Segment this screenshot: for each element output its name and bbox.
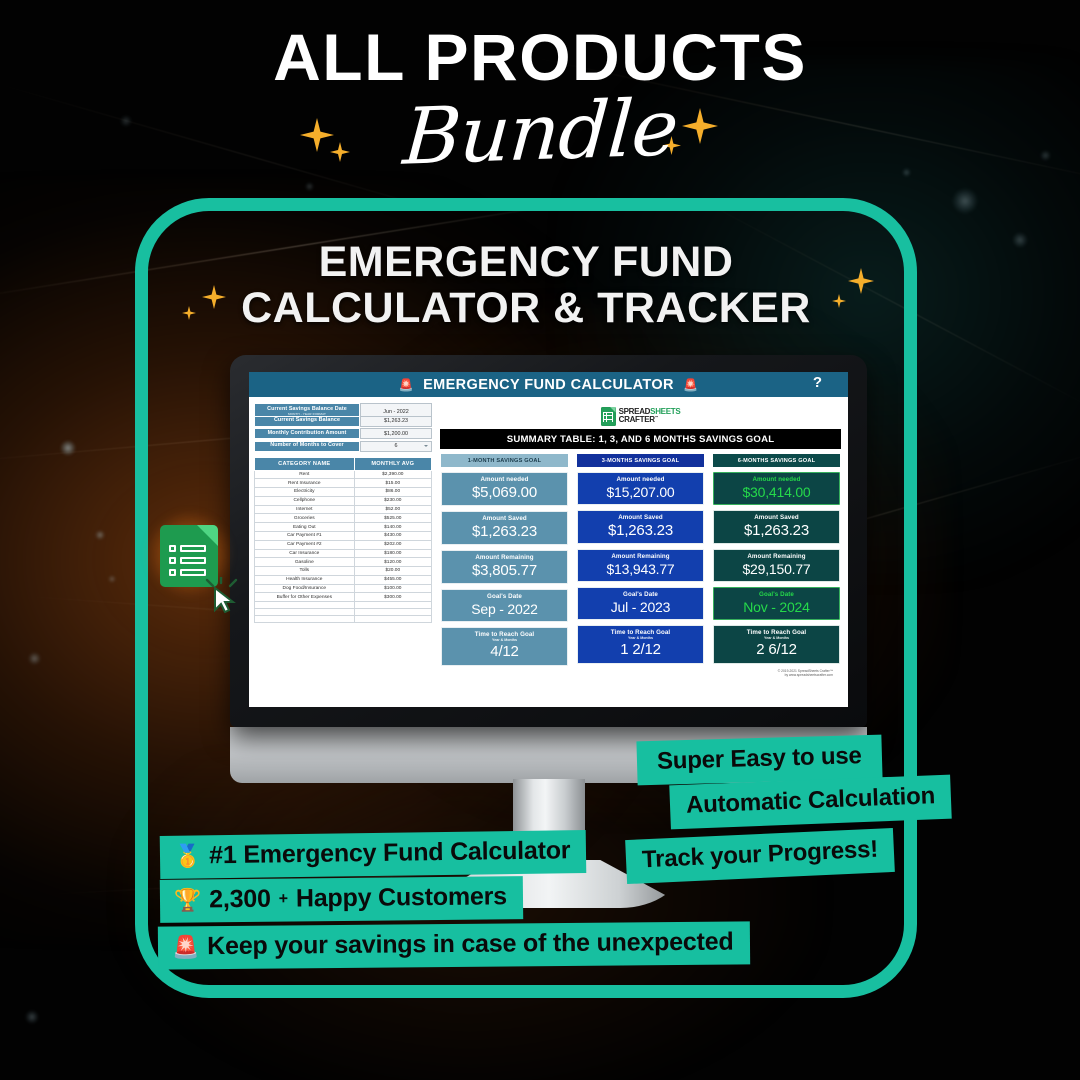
current-balance-field[interactable]: $1,263.23 xyxy=(360,416,432,427)
cell-category-name xyxy=(255,609,355,616)
headline-all-products: ALL PRODUCTS xyxy=(0,24,1080,90)
goal-metric-label: Amount Saved xyxy=(578,514,703,521)
badge-text: #1 Emergency Fund Calculator xyxy=(209,836,571,870)
input-label: Number of Months to Cover xyxy=(254,441,360,452)
input-row-months-to-cover: Number of Months to Cover 6 xyxy=(254,441,432,452)
goal-column-3: 6-MONTHS SAVINGS GOALAmount needed$30,41… xyxy=(713,454,840,666)
cell-category-name: Internet xyxy=(255,505,355,514)
product-title-line-1: EMERGENCY FUND xyxy=(135,240,917,286)
goal-metric-cell: Goal's DateSep - 2022 xyxy=(441,589,568,623)
cell-monthly-avg xyxy=(354,609,431,616)
cell-monthly-avg xyxy=(354,602,431,609)
logo-word-crafter: CRAFTER xyxy=(619,415,655,424)
cell-category-name: Gasoline xyxy=(255,558,355,567)
goal-column-1: 1-MONTH SAVINGS GOALAmount needed$5,069.… xyxy=(441,454,568,666)
goal-metric-cell: Amount Saved$1,263.23 xyxy=(577,510,704,545)
input-row-savings-date: Current Savings Balance Date MONTH - YEA… xyxy=(254,403,432,414)
badge-number-one-calculator: 🥇 #1 Emergency Fund Calculator xyxy=(160,830,587,879)
goal-column-header: 3-MONTHS SAVINGS GOAL xyxy=(577,454,704,467)
goal-metric-label: Goal's Date xyxy=(714,591,839,598)
input-label: Monthly Contribution Amount xyxy=(254,428,360,439)
input-label: Current Savings Balance xyxy=(254,416,360,427)
badge-plus-superscript: + xyxy=(279,890,288,908)
cell-category-name xyxy=(255,602,355,609)
goal-metric-sublabel: Year & Months xyxy=(442,638,567,642)
cell-category-name: Rent Insurance xyxy=(255,479,355,488)
goal-metric-value: $29,150.77 xyxy=(714,561,839,577)
cell-category-name: Car Payment #2 xyxy=(255,540,355,549)
goal-metric-value: Sep - 2022 xyxy=(442,601,567,617)
spreadsheet-titlebar: 🚨 EMERGENCY FUND CALCULATOR 🚨 ? xyxy=(249,372,848,397)
table-row: Electricity$86.00 xyxy=(255,488,432,497)
goal-metric-value: $1,263.23 xyxy=(714,522,839,539)
spreadsheet-title: EMERGENCY FUND CALCULATOR xyxy=(423,377,674,393)
cell-monthly-avg: $140.00 xyxy=(354,523,431,532)
goal-metric-label: Amount needed xyxy=(714,476,839,483)
goal-metric-cell: Amount Saved$1,263.23 xyxy=(713,510,840,545)
brand-logo: SPREADSHEETS CRAFTER™ xyxy=(438,403,843,429)
badge-text: Keep your savings in case of the unexpec… xyxy=(207,928,734,962)
cell-monthly-avg: $100.00 xyxy=(354,584,431,593)
goal-metric-cell: Amount needed$15,207.00 xyxy=(577,472,704,506)
cell-category-name: Buffer for Other Expenses xyxy=(255,593,355,602)
goal-metric-value: Jul - 2023 xyxy=(578,599,703,615)
siren-icon: 🚨 xyxy=(172,936,199,958)
monthly-contribution-field[interactable]: $1,200.00 xyxy=(360,428,432,439)
summary-table-banner: SUMMARY TABLE: 1, 3, AND 6 MONTHS SAVING… xyxy=(440,429,841,449)
goal-metric-label: Amount Remaining xyxy=(578,553,703,560)
cell-monthly-avg xyxy=(354,616,431,623)
goal-metric-cell: Goal's DateJul - 2023 xyxy=(577,587,704,621)
poster-headline: ALL PRODUCTS xyxy=(0,24,1080,90)
badge-text: Track your Progress! xyxy=(641,836,878,875)
goal-metric-cell: Goal's DateNov - 2024 xyxy=(713,587,840,621)
trophy-icon: 🏆 xyxy=(174,889,201,911)
cell-monthly-avg: $300.00 xyxy=(354,593,431,602)
inputs-panel: Current Savings Balance Date MONTH - YEA… xyxy=(254,403,432,707)
mouse-cursor-icon xyxy=(204,577,238,613)
goal-metric-value: 2 6/12 xyxy=(714,641,839,658)
badge-text: Automatic Calculation xyxy=(686,782,936,820)
product-title-line-2: CALCULATOR & TRACKER xyxy=(135,286,917,332)
cell-category-name: Electricity xyxy=(255,488,355,497)
goal-metric-label: Amount Remaining xyxy=(442,554,567,561)
goal-metric-label: Amount Saved xyxy=(442,515,567,522)
product-title: EMERGENCY FUND CALCULATOR & TRACKER xyxy=(135,240,917,331)
goal-metric-label: Goal's Date xyxy=(578,591,703,598)
table-row: Car Insurance$180.00 xyxy=(255,549,432,558)
cell-monthly-avg: $20.00 xyxy=(354,567,431,576)
goal-metric-value: $15,207.00 xyxy=(578,484,703,500)
goal-column-header: 6-MONTHS SAVINGS GOAL xyxy=(713,454,840,467)
table-row-empty xyxy=(255,616,432,623)
goal-columns: 1-MONTH SAVINGS GOALAmount needed$5,069.… xyxy=(438,454,843,666)
goal-metric-cell: Amount Remaining$13,943.77 xyxy=(577,549,704,583)
cell-monthly-avg: $525.00 xyxy=(354,514,431,523)
table-row: Internet$52.00 xyxy=(255,505,432,514)
input-sublabel: MONTH - YEAR FORMAT xyxy=(288,413,326,416)
goal-metric-cell: Amount needed$5,069.00 xyxy=(441,472,568,507)
badge-text: Super Easy to use xyxy=(657,742,862,776)
table-row: Car Payment #2$202.00 xyxy=(255,540,432,549)
goal-metric-value: 4/12 xyxy=(442,643,567,660)
goal-metric-label: Time to Reach Goal xyxy=(442,631,567,638)
cell-category-name: Dog Food/Insurance xyxy=(255,584,355,593)
cell-monthly-avg: $52.00 xyxy=(354,505,431,514)
spreadsheet-icon xyxy=(601,407,616,426)
headline-bundle: Bundle xyxy=(400,83,680,182)
goal-metric-sublabel: Year & Months xyxy=(714,636,839,640)
table-header-row: CATEGORY NAME MONTHLY AVG xyxy=(255,457,432,470)
goal-metric-value: $1,263.23 xyxy=(442,523,567,540)
goal-metric-label: Goal's Date xyxy=(442,593,567,600)
cell-category-name: Cellphone xyxy=(255,496,355,505)
gold-medal-icon: 🥇 xyxy=(174,845,202,867)
table-row-empty xyxy=(255,602,432,609)
cell-category-name: Rent xyxy=(255,470,355,479)
goal-metric-value: $3,805.77 xyxy=(442,562,567,579)
cell-monthly-avg: $86.00 xyxy=(354,488,431,497)
cell-monthly-avg: $202.00 xyxy=(354,540,431,549)
siren-icon: 🚨 xyxy=(683,378,698,392)
spreadsheet-footer: © 2019-2021 SpreadSheets Crafter™ by www… xyxy=(438,666,843,678)
cell-category-name: Health Insurance xyxy=(255,575,355,584)
table-row: Groceries$525.00 xyxy=(255,514,432,523)
badge-happy-customers: 🏆 2,300+ Happy Customers xyxy=(160,876,523,923)
spreadsheet-app: 🚨 EMERGENCY FUND CALCULATOR 🚨 ? Current … xyxy=(249,372,848,707)
table-row: Rent Insurance$15.00 xyxy=(255,479,432,488)
cell-monthly-avg: $230.00 xyxy=(354,496,431,505)
goal-metric-value: 1 2/12 xyxy=(578,641,703,658)
goal-metric-label: Amount Remaining xyxy=(714,553,839,560)
input-row-current-balance: Current Savings Balance $1,263.23 xyxy=(254,416,432,427)
input-row-monthly-contribution: Monthly Contribution Amount $1,200.00 xyxy=(254,428,432,439)
trademark-mark: ™ xyxy=(655,415,658,419)
table-row: Eating Out$140.00 xyxy=(255,523,432,532)
goal-column-2: 3-MONTHS SAVINGS GOALAmount needed$15,20… xyxy=(577,454,704,666)
table-row: Health Insurance$455.00 xyxy=(255,575,432,584)
chevron-down-icon[interactable] xyxy=(424,445,428,447)
column-header-category: CATEGORY NAME xyxy=(255,457,355,470)
goal-metric-label: Time to Reach Goal xyxy=(714,629,839,636)
cell-monthly-avg: $455.00 xyxy=(354,575,431,584)
goal-metric-cell: Time to Reach GoalYear & Months1 2/12 xyxy=(577,625,704,664)
goal-metric-label: Amount needed xyxy=(578,476,703,483)
google-sheets-icon xyxy=(160,525,218,587)
cell-monthly-avg: $430.00 xyxy=(354,531,431,540)
goal-metric-cell: Amount Saved$1,263.23 xyxy=(441,511,568,546)
goal-metric-sublabel: Year & Months xyxy=(578,636,703,640)
monitor-bezel: 🚨 EMERGENCY FUND CALCULATOR 🚨 ? Current … xyxy=(230,355,867,727)
goal-metric-label: Time to Reach Goal xyxy=(578,629,703,636)
goal-metric-value: $30,414.00 xyxy=(714,484,839,500)
goal-metric-cell: Time to Reach GoalYear & Months4/12 xyxy=(441,627,568,666)
goal-metric-cell: Amount needed$30,414.00 xyxy=(713,472,840,506)
goal-metric-value: $1,263.23 xyxy=(578,522,703,539)
table-row: Cellphone$230.00 xyxy=(255,496,432,505)
goal-metric-value: Nov - 2024 xyxy=(714,599,839,615)
cell-category-name: Tolls xyxy=(255,567,355,576)
cell-monthly-avg: $120.00 xyxy=(354,558,431,567)
badge-keep-savings: 🚨 Keep your savings in case of the unexp… xyxy=(158,921,750,969)
cell-category-name: Car Payment #1 xyxy=(255,531,355,540)
table-row-empty xyxy=(255,609,432,616)
goal-metric-cell: Amount Remaining$3,805.77 xyxy=(441,550,568,585)
footer-website: by www.spreadsheetscrafter.com xyxy=(438,673,833,677)
category-table: CATEGORY NAME MONTHLY AVG Rent$2,390.00R… xyxy=(254,457,432,624)
help-button[interactable]: ? xyxy=(813,374,822,391)
months-to-cover-value: 6 xyxy=(395,443,398,449)
cell-category-name: Eating Out xyxy=(255,523,355,532)
goal-metric-value: $5,069.00 xyxy=(442,484,567,501)
goal-metric-cell: Amount Remaining$29,150.77 xyxy=(713,549,840,583)
cell-monthly-avg: $180.00 xyxy=(354,549,431,558)
table-row: Buffer for Other Expenses$300.00 xyxy=(255,593,432,602)
table-row: Tolls$20.00 xyxy=(255,567,432,576)
goal-metric-value: $13,943.77 xyxy=(578,561,703,577)
goal-metric-label: Amount Saved xyxy=(714,514,839,521)
cell-monthly-avg: $15.00 xyxy=(354,479,431,488)
siren-icon: 🚨 xyxy=(399,378,414,392)
column-header-monthly-avg: MONTHLY AVG xyxy=(354,457,431,470)
table-row: Car Payment #1$430.00 xyxy=(255,531,432,540)
badge-text: Happy Customers xyxy=(296,882,507,913)
poster-canvas: ALL PRODUCTS Bundle EMERGENCY FUND CALCU… xyxy=(0,0,1080,1080)
poster-headline-script: Bundle xyxy=(0,88,1080,178)
goal-metric-label: Amount needed xyxy=(442,476,567,483)
summary-panel: SPREADSHEETS CRAFTER™ SUMMARY TABLE: 1, … xyxy=(438,403,843,707)
cell-category-name xyxy=(255,616,355,623)
table-row: Dog Food/Insurance$100.00 xyxy=(255,584,432,593)
goal-column-header: 1-MONTH SAVINGS GOAL xyxy=(441,454,568,467)
cell-category-name: Groceries xyxy=(255,514,355,523)
table-row: Rent$2,390.00 xyxy=(255,470,432,479)
badge-customer-count: 2,300 xyxy=(209,885,271,915)
monitor-screen: 🚨 EMERGENCY FUND CALCULATOR 🚨 ? Current … xyxy=(249,372,848,707)
goal-metric-cell: Time to Reach GoalYear & Months2 6/12 xyxy=(713,625,840,664)
monitor-mockup: 🚨 EMERGENCY FUND CALCULATOR 🚨 ? Current … xyxy=(230,355,867,727)
cell-monthly-avg: $2,390.00 xyxy=(354,470,431,479)
cell-category-name: Car Insurance xyxy=(255,549,355,558)
months-to-cover-select[interactable]: 6 xyxy=(360,441,432,452)
table-row: Gasoline$120.00 xyxy=(255,558,432,567)
